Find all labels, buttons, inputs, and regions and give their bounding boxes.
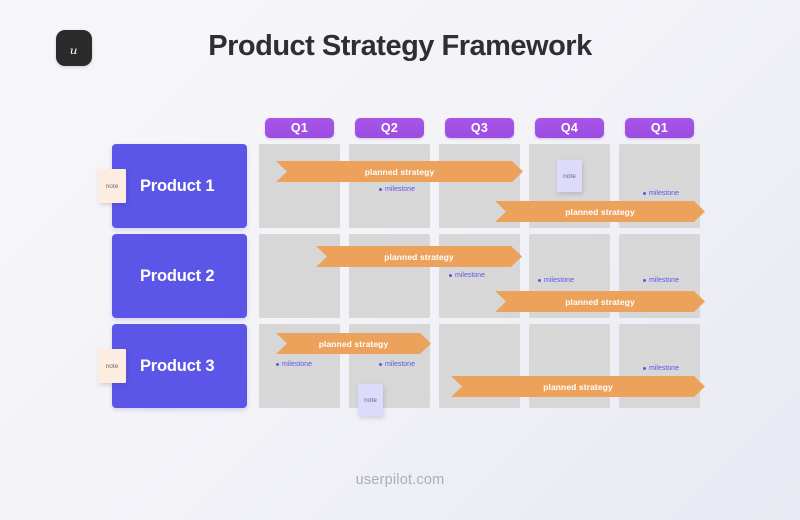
milestone-dot-icon	[643, 192, 646, 195]
product-label: Product 3	[140, 357, 214, 376]
quarter-header-label: Q3	[471, 121, 488, 135]
planned-strategy-label: planned strategy	[365, 167, 435, 177]
milestone-dot-icon	[379, 188, 382, 191]
poster-canvas: ᵤ Product Strategy Framework Q1Q2Q3Q4Q1P…	[0, 0, 800, 520]
sticky-note-label: note	[364, 397, 377, 404]
milestone-label: milestone	[649, 277, 679, 284]
milestone-marker[interactable]: milestone	[379, 186, 415, 193]
milestone-dot-icon	[276, 363, 279, 366]
milestone-dot-icon	[643, 367, 646, 370]
product-label: Product 1	[140, 177, 214, 196]
planned-strategy-bar[interactable]: planned strategy	[495, 291, 705, 312]
product-block-1[interactable]: Product 1	[112, 144, 247, 228]
milestone-label: milestone	[385, 361, 415, 368]
milestone-marker[interactable]: milestone	[449, 272, 485, 279]
quarter-header-label: Q1	[291, 121, 308, 135]
sticky-note-label: note	[106, 363, 119, 370]
quarter-header-label: Q2	[381, 121, 398, 135]
milestone-marker[interactable]: milestone	[643, 190, 679, 197]
product-block-3[interactable]: Product 3	[112, 324, 247, 408]
milestone-label: milestone	[282, 361, 312, 368]
milestone-marker[interactable]: milestone	[643, 365, 679, 372]
milestone-dot-icon	[643, 279, 646, 282]
sticky-note[interactable]: note	[98, 349, 126, 383]
product-label: Product 2	[140, 267, 214, 286]
sticky-note-label: note	[106, 183, 119, 190]
planned-strategy-label: planned strategy	[565, 297, 635, 307]
product-block-2[interactable]: Product 2	[112, 234, 247, 318]
milestone-label: milestone	[385, 186, 415, 193]
milestone-label: milestone	[544, 277, 574, 284]
milestone-dot-icon	[538, 279, 541, 282]
sticky-note[interactable]: note	[358, 384, 383, 416]
milestone-label: milestone	[649, 190, 679, 197]
milestone-dot-icon	[379, 363, 382, 366]
grid-cell[interactable]	[259, 144, 340, 228]
quarter-header-4[interactable]: Q4	[535, 118, 604, 138]
roadmap-board: Q1Q2Q3Q4Q1Product 1planned strategyplann…	[0, 0, 800, 520]
quarter-header-1[interactable]: Q1	[265, 118, 334, 138]
quarter-header-3[interactable]: Q3	[445, 118, 514, 138]
milestone-label: milestone	[455, 272, 485, 279]
milestone-dot-icon	[449, 274, 452, 277]
planned-strategy-label: planned strategy	[319, 339, 389, 349]
quarter-header-label: Q1	[651, 121, 668, 135]
sticky-note[interactable]: note	[98, 169, 126, 203]
sticky-note-label: note	[563, 173, 576, 180]
planned-strategy-label: planned strategy	[565, 207, 635, 217]
milestone-marker[interactable]: milestone	[643, 277, 679, 284]
sticky-note[interactable]: note	[557, 160, 582, 192]
planned-strategy-bar[interactable]: planned strategy	[276, 333, 431, 354]
planned-strategy-label: planned strategy	[384, 252, 454, 262]
milestone-marker[interactable]: milestone	[379, 361, 415, 368]
quarter-header-label: Q4	[561, 121, 578, 135]
milestone-label: milestone	[649, 365, 679, 372]
planned-strategy-bar[interactable]: planned strategy	[451, 376, 705, 397]
planned-strategy-bar[interactable]: planned strategy	[316, 246, 522, 267]
milestone-marker[interactable]: milestone	[276, 361, 312, 368]
milestone-marker[interactable]: milestone	[538, 277, 574, 284]
planned-strategy-label: planned strategy	[543, 382, 613, 392]
footer-url: userpilot.com	[0, 472, 800, 488]
quarter-header-5[interactable]: Q1	[625, 118, 694, 138]
planned-strategy-bar[interactable]: planned strategy	[276, 161, 523, 182]
quarter-header-2[interactable]: Q2	[355, 118, 424, 138]
planned-strategy-bar[interactable]: planned strategy	[495, 201, 705, 222]
